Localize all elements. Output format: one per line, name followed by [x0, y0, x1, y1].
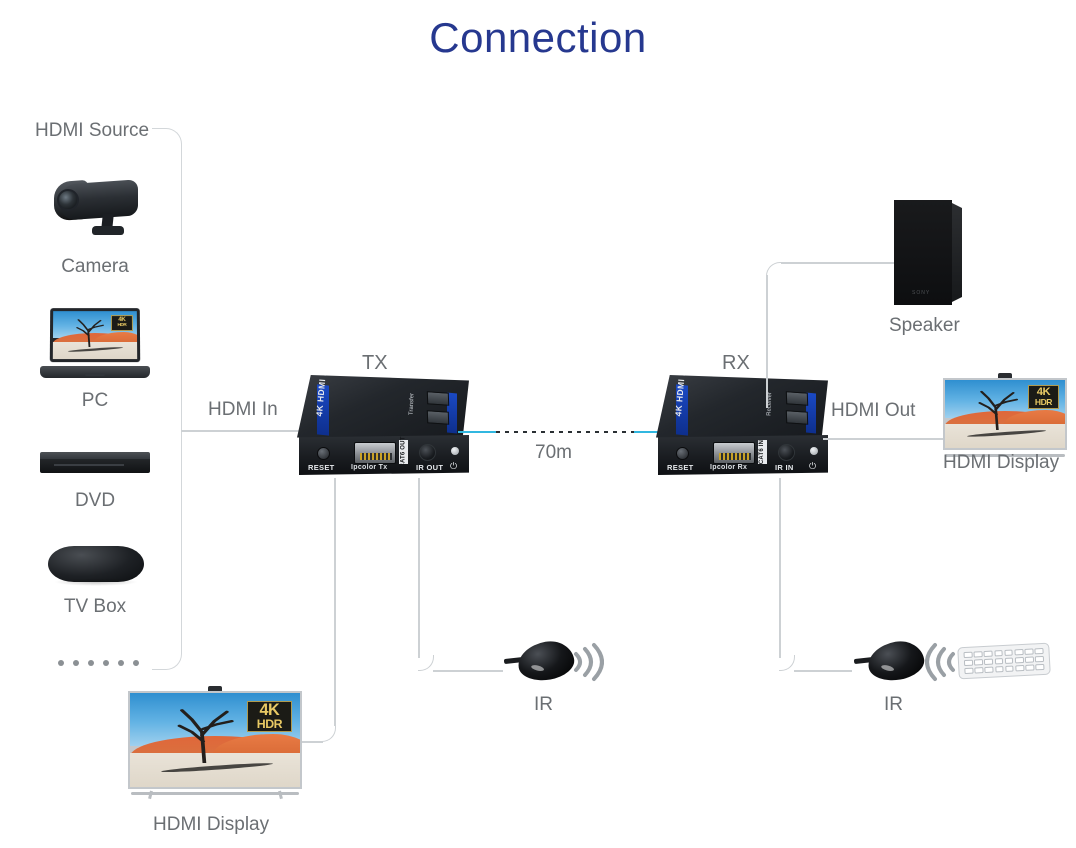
tx-cat6-port-label: CAT6 OUT: [399, 440, 408, 464]
rx-device-top: 4K HDMI EXTENDER Receiver: [656, 375, 828, 443]
rx-ir-cable-vertical: [779, 478, 781, 658]
cat6-cable-run: [458, 430, 672, 434]
hdmi-out-label: HDMI Out: [831, 400, 915, 422]
tx-status-led: [451, 447, 459, 455]
laptop-icon: 4K HDR: [40, 308, 150, 378]
rx-cat6-port-label: CAT6 IN: [758, 440, 767, 464]
source-label-camera: Camera: [10, 256, 180, 278]
hdmi-source-group-label: HDMI Source: [35, 120, 149, 142]
ir-signal-waves-icon: [570, 640, 604, 684]
tx-ir-cable-vertical: [418, 478, 420, 658]
tx-reset-text: RESET: [308, 463, 335, 472]
rx-port-text: Ipcolor Rx: [710, 464, 747, 471]
connection-diagram: Connection HDMI Source Camera: [0, 0, 1076, 848]
tx-power-icon: ⏻: [450, 461, 457, 472]
badge-hdr-text: HDR: [117, 324, 126, 329]
tx-device-top: 4K HDMI EXTENDER Transfer: [297, 375, 469, 443]
rx-power-icon: ⏻: [809, 461, 816, 472]
rx-side-port-label: Receiver: [767, 392, 774, 416]
tx-device-front-panel: CAT6 OUT RESET Ipcolor Tx IR OUT ⏻: [299, 435, 469, 475]
speaker-cable-corner: [766, 262, 782, 278]
tx-ir-jack: [419, 444, 436, 461]
hdmi-out-cable: [823, 438, 943, 440]
tx-label: TX: [362, 352, 388, 375]
source-label-pc: PC: [10, 390, 180, 412]
tx-rj45-port: [354, 442, 396, 464]
rx-reset-text: RESET: [667, 463, 694, 472]
tx-port-text: Ipcolor Tx: [351, 464, 387, 471]
speaker-label: Speaker: [889, 315, 960, 337]
tx-ir-cable-corner: [418, 655, 434, 671]
tx-extender-device: 4K HDMI EXTENDER Transfer CAT6 OUT RESET…: [297, 375, 469, 487]
hdmi-display-right-icon: 4K HDR: [943, 378, 1067, 460]
tx-reset-button[interactable]: [317, 447, 330, 460]
rx-status-led: [810, 447, 818, 455]
speaker-icon: SONY: [894, 200, 962, 305]
bottom-display-cable-corner: [320, 726, 336, 742]
speaker-cable-vertical: [766, 275, 768, 408]
bottom-display-cable-horizontal: [301, 741, 323, 743]
rx-rj45-port: [713, 442, 755, 464]
hdmi-in-label: HDMI In: [208, 399, 278, 421]
tx-ir-label: IR: [534, 694, 553, 716]
source-label-tv-box: TV Box: [10, 596, 180, 618]
tx-cat6-port-label-text: CAT6 OUT: [401, 436, 407, 467]
dvd-player-icon: [40, 452, 150, 478]
tx-ir-text: IR OUT: [416, 463, 443, 472]
rx-ir-text: IR IN: [775, 463, 794, 472]
hdmi-display-right-label: HDMI Display: [943, 452, 1059, 474]
rx-label: RX: [722, 352, 750, 375]
rx-device-front-panel: CAT6 IN RESET Ipcolor Rx IR IN ⏻: [658, 435, 828, 475]
source-label-dvd: DVD: [10, 490, 180, 512]
distance-label: 70m: [535, 442, 572, 464]
hdmi-display-bottom-label: HDMI Display: [153, 814, 269, 836]
rx-ir-jack: [778, 444, 795, 461]
tv-box-icon: [48, 546, 144, 588]
rx-extender-device: 4K HDMI EXTENDER Receiver CAT6 IN RESET …: [656, 375, 828, 487]
remote-control-icon: [957, 643, 1051, 680]
badge-hdr-text: HDR: [1035, 398, 1052, 407]
ir-remote-waves-icon: [925, 640, 959, 684]
hdmi-display-bottom-icon: 4K HDR: [128, 691, 302, 801]
rx-reset-button[interactable]: [676, 447, 689, 460]
hdmi-in-cable: [181, 430, 303, 432]
bottom-display-cable-vertical: [334, 478, 336, 726]
page-title: Connection: [0, 14, 1076, 62]
badge-hdr-text: HDR: [257, 718, 282, 730]
cctv-camera-icon: [44, 178, 148, 238]
speaker-cable-horizontal: [781, 262, 899, 264]
tx-side-port-label: Transfer: [409, 393, 416, 415]
more-sources-indicator: [58, 660, 139, 666]
badge-4k-text: 4K: [260, 702, 280, 718]
rx-ir-cable-corner: [779, 655, 795, 671]
rx-cat6-port-label-text: CAT6 IN: [760, 440, 766, 464]
rx-ir-label: IR: [884, 694, 903, 716]
